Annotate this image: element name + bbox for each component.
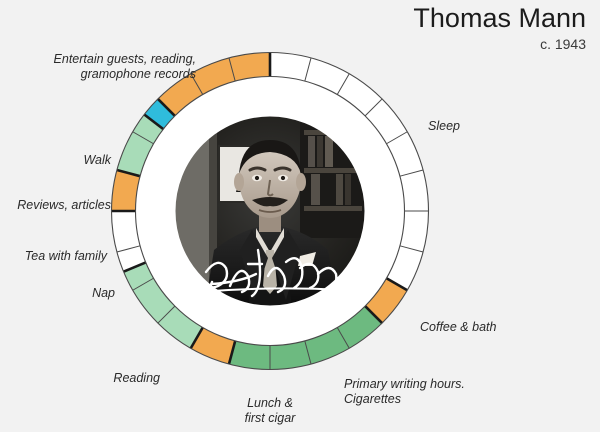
label-nap: Nap	[0, 286, 115, 301]
portrait-photo	[175, 116, 365, 306]
label-entertain: Entertain guests, reading, gramophone re…	[6, 52, 196, 82]
label-lunch: Lunch & first cigar	[215, 396, 325, 426]
label-coffee: Coffee & bath	[420, 320, 590, 335]
label-reviews: Reviews, articles	[0, 198, 111, 213]
label-walk: Walk	[6, 153, 111, 168]
routine-infographic: Thomas Mann c. 1943	[0, 0, 600, 432]
label-writing: Primary writing hours. Cigarettes	[344, 377, 524, 407]
label-sleep: Sleep	[428, 119, 548, 134]
label-reading: Reading	[60, 371, 160, 386]
label-tea: Tea with family	[0, 249, 107, 264]
